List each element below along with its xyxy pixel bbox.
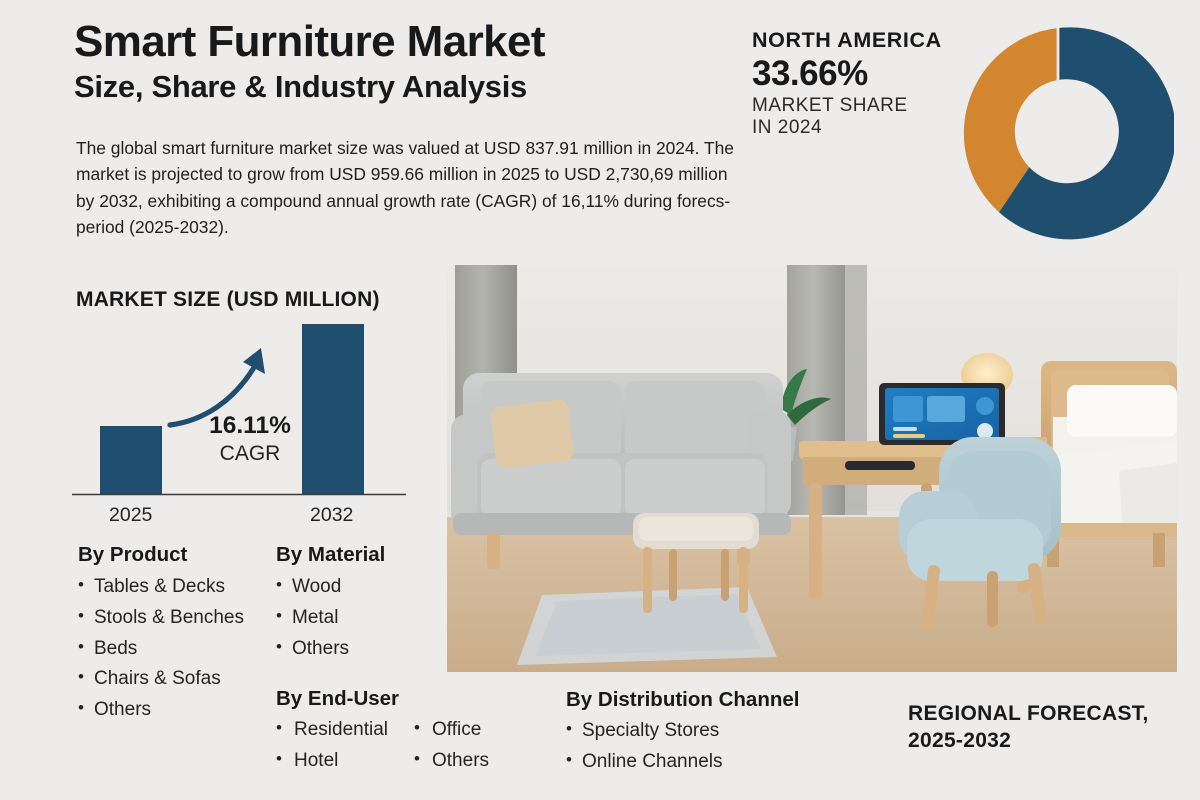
list-item: Office bbox=[414, 715, 489, 746]
list-item: Tables & Decks bbox=[78, 572, 244, 603]
throw-pillow-icon bbox=[490, 398, 575, 469]
donut-gap-top bbox=[1057, 27, 1060, 81]
list-item: Chairs & Sofas bbox=[78, 664, 244, 695]
infographic-page: Smart Furniture Market Size, Share & Ind… bbox=[0, 0, 1200, 800]
list-item: Online Channels bbox=[566, 747, 799, 778]
product-list: Tables & Decks Stools & Benches Beds Cha… bbox=[78, 572, 244, 726]
distribution-list: Specialty Stores Online Channels bbox=[566, 716, 799, 778]
end-user-list-column-one: Residential Hotel bbox=[276, 715, 388, 777]
bar-2032 bbox=[302, 324, 364, 494]
bar-label-2032: 2032 bbox=[310, 504, 353, 527]
donut-chart bbox=[942, 18, 1174, 250]
interior-photo bbox=[447, 265, 1177, 672]
regional-forecast-line2: 2025-2032 bbox=[908, 727, 1149, 754]
bar-2025 bbox=[100, 426, 162, 494]
bar-chart-title: MARKET SIZE (USD MILLION) bbox=[76, 288, 380, 312]
cagr-value: 16.11% bbox=[190, 413, 310, 440]
segment-heading-material: By Material bbox=[276, 543, 385, 567]
list-item: Others bbox=[276, 634, 385, 665]
segment-heading-end-user: By End-User bbox=[276, 687, 489, 711]
list-item: Wood bbox=[276, 572, 385, 603]
segment-by-product: By Product Tables & Decks Stools & Bench… bbox=[78, 543, 244, 726]
segment-by-material: By Material Wood Metal Others bbox=[276, 543, 385, 664]
material-list: Wood Metal Others bbox=[276, 572, 385, 664]
list-item: Specialty Stores bbox=[566, 716, 799, 747]
list-item: Others bbox=[78, 695, 244, 726]
market-share-value: 33.66% bbox=[752, 54, 962, 93]
segment-by-end-user: By End-User Residential Hotel Office Oth… bbox=[276, 687, 489, 777]
segment-by-distribution-channel: By Distribution Channel Specialty Stores… bbox=[566, 688, 799, 778]
list-item: Metal bbox=[276, 603, 385, 634]
list-item: Beds bbox=[78, 634, 244, 665]
north-america-stat-block: NORTH AMERICA 33.66% MARKET SHARE IN 202… bbox=[752, 28, 962, 140]
cagr-label: CAGR bbox=[190, 441, 310, 466]
list-item: Residential bbox=[276, 715, 388, 746]
region-label: NORTH AMERICA bbox=[752, 28, 962, 53]
market-share-caption-line2: IN 2024 bbox=[752, 117, 962, 139]
title-block: Smart Furniture Market Size, Share & Ind… bbox=[74, 18, 734, 104]
regional-forecast-line1: REGIONAL FORECAST, bbox=[908, 700, 1149, 727]
segment-heading-product: By Product bbox=[78, 543, 244, 567]
market-share-caption-line1: MARKET SHARE bbox=[752, 95, 962, 117]
page-subtitle: Size, Share & Industry Analysis bbox=[74, 70, 734, 105]
list-item: Hotel bbox=[276, 746, 388, 777]
bar-label-2025: 2025 bbox=[109, 504, 152, 527]
intro-paragraph: The global smart furniture market size w… bbox=[76, 135, 748, 241]
list-item: Others bbox=[414, 746, 489, 777]
segment-heading-distribution: By Distribution Channel bbox=[566, 688, 799, 712]
regional-forecast-label: REGIONAL FORECAST, 2025-2032 bbox=[908, 700, 1149, 755]
end-user-list-column-two: Office Others bbox=[414, 715, 489, 777]
cagr-callout: 16.11% CAGR bbox=[190, 413, 310, 466]
list-item: Stools & Benches bbox=[78, 603, 244, 634]
page-title: Smart Furniture Market bbox=[74, 18, 734, 66]
